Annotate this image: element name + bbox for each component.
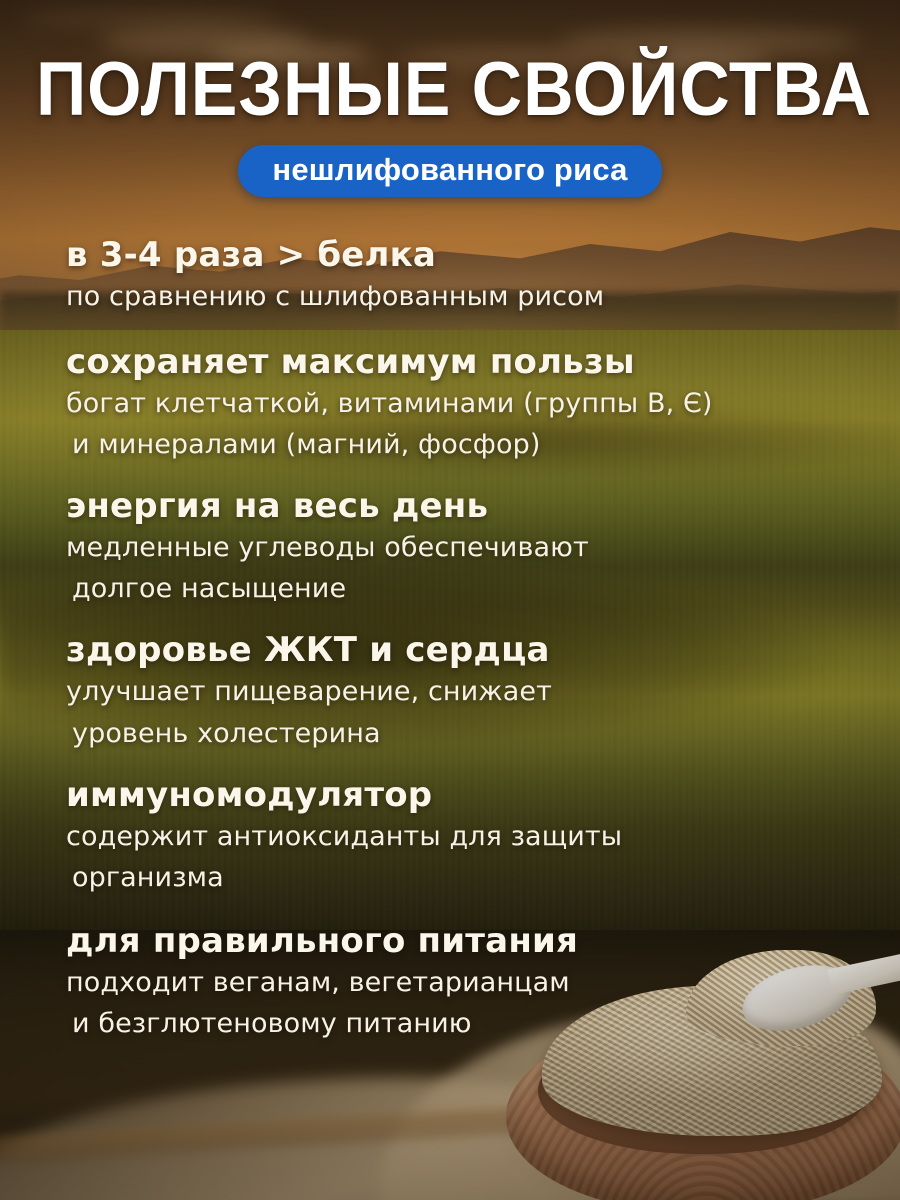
benefit-item: сохраняет максимум пользы богат клетчатк… — [66, 343, 866, 465]
benefit-item: в 3-4 раза > белка по сравнению с шлифов… — [66, 236, 866, 317]
benefit-description-line: содержит антиоксиданты для защиты — [66, 821, 622, 852]
benefit-heading: энергия на весь день — [66, 487, 866, 525]
benefit-item: энергия на весь день медленные углеводы … — [66, 487, 866, 609]
benefit-description-line: уровень холестерина — [66, 713, 866, 754]
subtitle-badge: нешлифованного риса — [238, 145, 661, 197]
benefit-heading: в 3-4 раза > белка — [66, 236, 866, 274]
benefit-description-line: подходит веганам, вегетарианцам — [66, 967, 570, 998]
benefit-heading: иммуномодулятор — [66, 776, 866, 814]
benefit-heading: здоровье ЖКТ и сердца — [66, 631, 866, 669]
benefit-description: по сравнению с шлифованным рисом — [66, 276, 866, 317]
benefit-heading: для правильного питания — [66, 922, 866, 960]
benefit-description-line: долгое насыщение — [66, 568, 866, 609]
page-title: ПОЛЕЗНЫЕ СВОЙСТВА — [36, 52, 864, 128]
benefits-list: в 3-4 раза > белка по сравнению с шлифов… — [66, 236, 866, 1044]
benefit-description-line: и безглютеновому питанию — [66, 1003, 866, 1044]
benefit-description: содержит антиоксиданты для защиты органи… — [66, 816, 866, 898]
benefit-description: медленные углеводы обеспечивают долгое н… — [66, 527, 866, 609]
benefit-description: улучшает пищеварение, снижает уровень хо… — [66, 671, 866, 753]
benefit-item: для правильного питания подходит веганам… — [66, 922, 866, 1044]
benefit-item: иммуномодулятор содержит антиоксиданты д… — [66, 776, 866, 898]
benefit-description-line: и минералами (магний, фосфор) — [66, 424, 866, 465]
benefit-description-line: богат клетчаткой, витаминами (группы В, … — [66, 388, 713, 419]
benefit-item: здоровье ЖКТ и сердца улучшает пищеварен… — [66, 631, 866, 753]
benefit-description-line: медленные углеводы обеспечивают — [66, 532, 589, 563]
promo-poster: ПОЛЕЗНЫЕ СВОЙСТВА нешлифованного риса в … — [0, 0, 900, 1200]
benefit-heading: сохраняет максимум пользы — [66, 343, 866, 381]
benefit-description-line: улучшает пищеварение, снижает — [66, 676, 552, 707]
benefit-description: богат клетчаткой, витаминами (группы В, … — [66, 383, 866, 465]
benefit-description: подходит веганам, вегетарианцам и безглю… — [66, 962, 866, 1044]
benefit-description-line: по сравнению с шлифованным рисом — [66, 281, 604, 312]
poster-content: ПОЛЕЗНЫЕ СВОЙСТВА нешлифованного риса в … — [0, 0, 900, 1200]
subtitle-badge-row: нешлифованного риса — [0, 145, 900, 197]
benefit-description-line: организма — [66, 857, 866, 898]
